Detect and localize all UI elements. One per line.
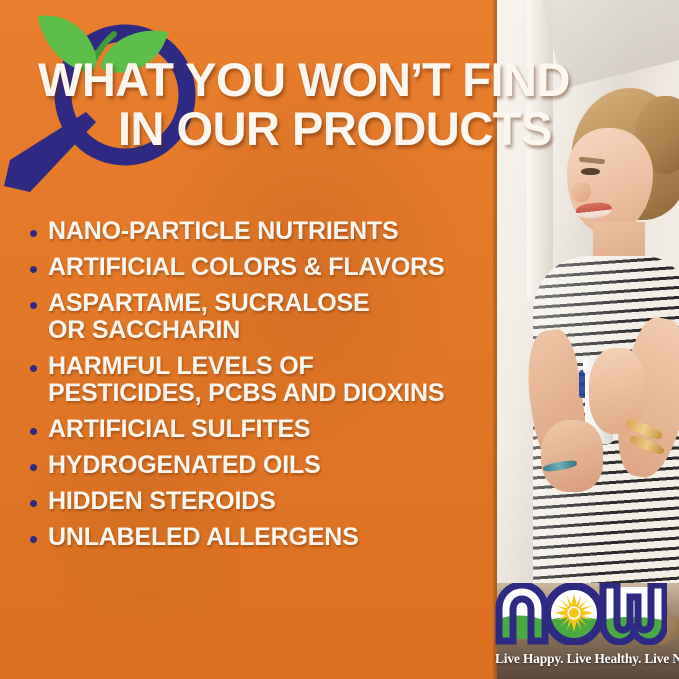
bullet-dot-icon xyxy=(30,365,37,372)
bullet-dot-icon xyxy=(30,500,37,507)
list-item-label: ARTIFICIAL COLORS & FLAVORS xyxy=(48,254,444,281)
headline-line-1: WHAT YOU WON’T FIND xyxy=(38,57,668,102)
list-item-label: UNLABELED ALLERGENS xyxy=(48,524,359,551)
promotional-poster: WHAT YOU WON’T FIND IN OUR PRODUCTS NANO… xyxy=(0,0,679,679)
headline-text-after: FIND xyxy=(450,53,570,106)
now-wordmark: ® xyxy=(495,583,667,645)
headline-text-before: WHAT YOU xyxy=(38,53,298,106)
photo-woman-nose xyxy=(571,182,591,202)
list-item: HIDDEN STEROIDS xyxy=(30,488,490,515)
registered-trademark-icon: ® xyxy=(665,586,667,595)
bullet-dot-icon xyxy=(30,266,37,273)
list-item: HARMFUL LEVELS OFPESTICIDES, PCBS AND DI… xyxy=(30,353,490,407)
headline-line-2: IN OUR PRODUCTS xyxy=(38,106,668,151)
now-foods-logo: ® Live Happy. Live Healthy. Live NOW. xyxy=(495,583,667,665)
list-item-label: HARMFUL LEVELS OFPESTICIDES, PCBS AND DI… xyxy=(48,353,444,407)
list-item: ARTIFICIAL COLORS & FLAVORS xyxy=(30,254,490,281)
bullet-dot-icon xyxy=(30,302,37,309)
list-item-label: NANO-PARTICLE NUTRIENTS xyxy=(48,218,398,245)
list-item: ASPARTAME, SUCRALOSEOR SACCHARIN xyxy=(30,290,490,344)
page-title: WHAT YOU WON’T FIND IN OUR PRODUCTS xyxy=(38,57,668,151)
photo-woman-eye xyxy=(581,168,600,175)
list-item-label: HIDDEN STEROIDS xyxy=(48,488,276,515)
bullet-dot-icon xyxy=(30,464,37,471)
excluded-ingredients-list: NANO-PARTICLE NUTRIENTS ARTIFICIAL COLOR… xyxy=(30,218,490,560)
bullet-dot-icon xyxy=(30,428,37,435)
bullet-dot-icon xyxy=(30,536,37,543)
bullet-dot-icon xyxy=(30,230,37,237)
list-item: UNLABELED ALLERGENS xyxy=(30,524,490,551)
list-item-label: HYDROGENATED OILS xyxy=(48,452,321,479)
list-item-label: ASPARTAME, SUCRALOSEOR SACCHARIN xyxy=(48,290,369,344)
list-item: ARTIFICIAL SULFITES xyxy=(30,416,490,443)
list-item: NANO-PARTICLE NUTRIENTS xyxy=(30,218,490,245)
photo-woman-left-hand xyxy=(541,420,603,492)
list-item: HYDROGENATED OILS xyxy=(30,452,490,479)
list-item-label: ARTIFICIAL SULFITES xyxy=(48,416,310,443)
sunburst-icon xyxy=(555,594,593,632)
logo-tagline: Live Happy. Live Healthy. Live NOW. xyxy=(495,651,667,667)
headline-emphasis: WON’T xyxy=(298,53,450,106)
